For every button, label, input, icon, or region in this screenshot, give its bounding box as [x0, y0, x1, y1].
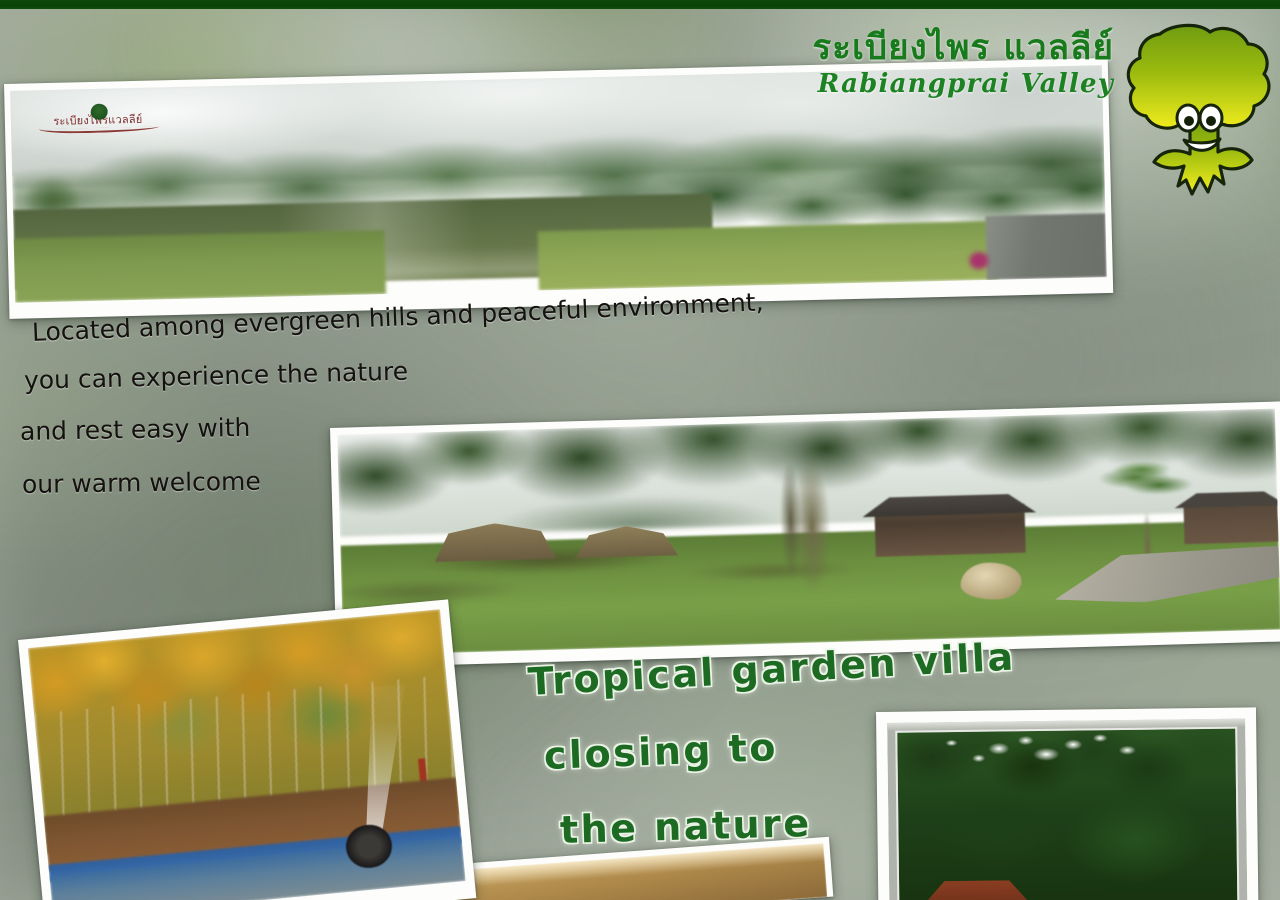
autumn-scene: [28, 609, 466, 900]
page-title: ระเบียงไพร แวลลีย์ Rabiangprai Valley: [812, 30, 1114, 99]
top-green-bar: [0, 0, 1280, 9]
autumn-fountain-image: [28, 609, 466, 900]
red-tiled-roof: [919, 880, 1034, 900]
blurb-line-4: our warm welcome: [22, 457, 940, 499]
blurb-line-3: and rest easy with: [20, 401, 940, 446]
intro-blurb: Located among evergreen hills and peacef…: [20, 318, 940, 499]
roadside-path: [985, 213, 1107, 279]
tagline: Tropical garden villa closing to the nat…: [528, 660, 1016, 852]
blurb-line-2: you can experience the nature: [24, 344, 940, 395]
title-english: Rabiangprai Valley: [812, 69, 1114, 99]
tagline-line-3: the nature: [559, 795, 1016, 852]
tagline-line-2: closing to: [543, 716, 1016, 778]
watermark-logo: ระเบียงไพรแวลลีย์: [32, 101, 163, 138]
panorama-lake-image: ระเบียงไพรแวลลีย์: [10, 65, 1107, 303]
limestone-boulder: [960, 562, 1022, 601]
wooden-villa-right: [1184, 501, 1279, 543]
palm-tree: [1098, 460, 1195, 564]
autumn-fountain-photo: [18, 599, 476, 900]
grass-bank-left: [14, 230, 387, 302]
lake-scene: [10, 65, 1107, 303]
title-thai: ระเบียงไพร แวลลีย์: [812, 30, 1114, 67]
smiling-tree-mascot-icon: [1126, 22, 1280, 208]
wooden-villa: [874, 504, 1025, 557]
